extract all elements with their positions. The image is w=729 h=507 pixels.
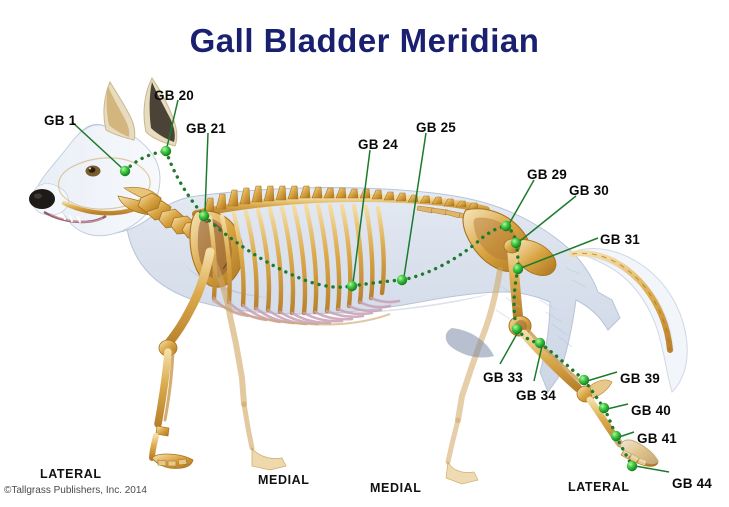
acupoint-label-gb31: GB 31: [600, 232, 640, 247]
acupoint-label-gb1: GB 1: [44, 113, 76, 128]
orientation-label-medial-fore: MEDIAL: [258, 473, 310, 487]
acupoint-label-gb33: GB 33: [483, 370, 523, 385]
orientation-label-lateral-front: LATERAL: [40, 467, 102, 481]
acupoint-label-gb29: GB 29: [527, 167, 567, 182]
acupoint-label-gb21: GB 21: [186, 121, 226, 136]
orientation-label-medial-hind: MEDIAL: [370, 481, 422, 495]
acupoint-label-gb44: GB 44: [672, 476, 712, 491]
acupoint-label-gb24: GB 24: [358, 137, 398, 152]
acupoint-label-gb40: GB 40: [631, 403, 671, 418]
orientation-label-lateral-hind: LATERAL: [568, 480, 630, 494]
acupoint-label-gb39: GB 39: [620, 371, 660, 386]
acupoint-label-gb41: GB 41: [637, 431, 677, 446]
diagram-canvas: Gall Bladder Meridian: [0, 0, 729, 507]
acupoint-label-gb20: GB 20: [154, 88, 194, 103]
acupoint-label-gb30: GB 30: [569, 183, 609, 198]
acupoint-label-gb34: GB 34: [516, 388, 556, 403]
copyright-notice: ©Tallgrass Publishers, Inc. 2014: [4, 485, 147, 496]
dog-anatomy-illustration: [0, 0, 729, 507]
acupoint-label-gb25: GB 25: [416, 120, 456, 135]
